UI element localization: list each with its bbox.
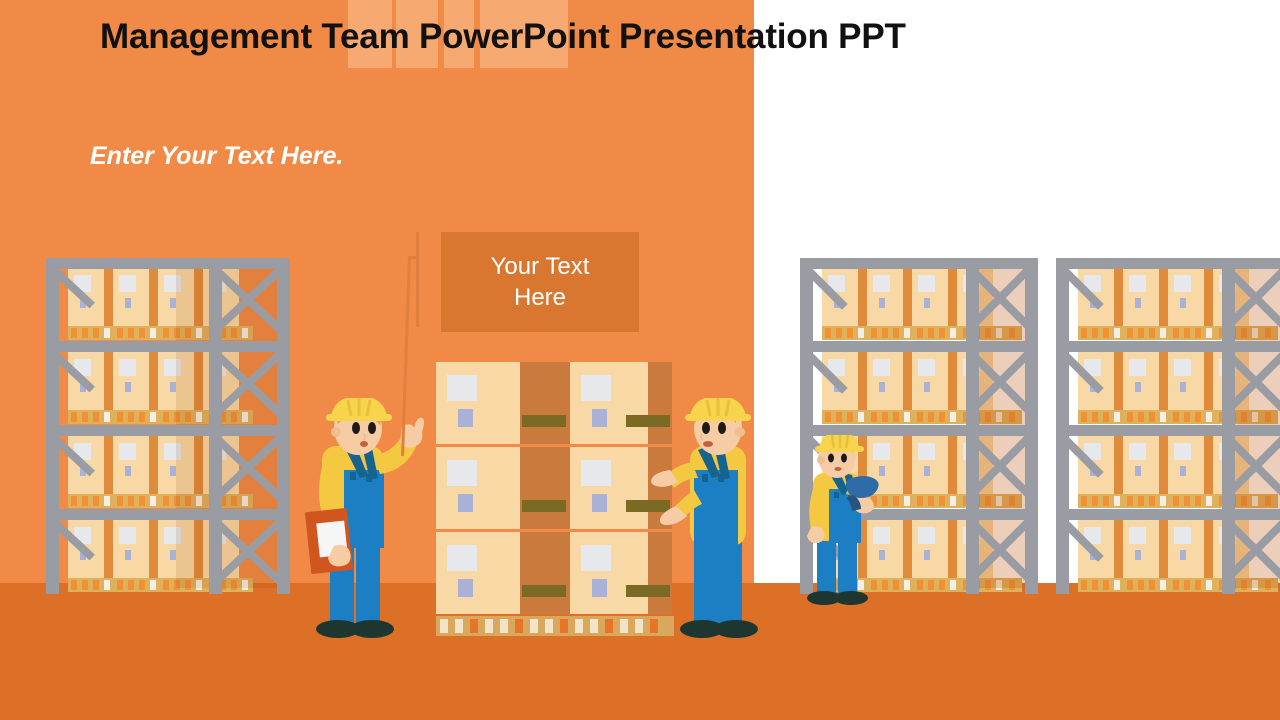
centre-stack-pallet-block — [590, 619, 598, 633]
centre-stack-pallet-block — [485, 619, 493, 633]
worker-pointing — [300, 398, 425, 638]
centre-stack-box-label — [447, 545, 477, 571]
rack-left-beam-3 — [46, 425, 290, 436]
centre-stack-box-tape — [522, 415, 566, 427]
rack-right-a-beam-2 — [800, 341, 1038, 352]
rack-right-b-beam-4 — [1056, 509, 1280, 520]
rack-left-beam-4 — [46, 509, 290, 520]
callout-text-box[interactable]: Your Text Here — [441, 232, 639, 332]
centre-stack-pallet-block — [575, 619, 583, 633]
worker-presenting-figure — [650, 398, 765, 638]
rack-right-b-beam-2 — [1056, 341, 1280, 352]
callout-label: Your Text Here — [491, 251, 590, 313]
centre-pallet-stack — [436, 362, 672, 642]
centre-stack-box-dot — [592, 409, 607, 427]
page-title: Management Team PowerPoint Presentation … — [100, 14, 1220, 60]
worker-scanning-figure — [797, 435, 897, 605]
centre-stack-box-dot — [592, 579, 607, 597]
centre-stack-box-label — [581, 375, 611, 401]
rack-right-b-beam-3 — [1056, 425, 1280, 436]
centre-stack-box-dot — [458, 409, 473, 427]
worker-scanning — [797, 435, 897, 605]
rack-left-beam-2 — [46, 341, 290, 352]
centre-stack-box-label — [447, 460, 477, 486]
centre-stack-pallet-block — [470, 619, 478, 633]
centre-stack-box-label — [581, 545, 611, 571]
rack-left-beam-1 — [46, 258, 290, 269]
rack-left — [46, 258, 290, 594]
centre-stack-pallet-block — [635, 619, 643, 633]
pointer-stick-vertical — [416, 232, 419, 327]
rack-right-b-beam-1 — [1056, 258, 1280, 269]
centre-stack-pallet-block — [500, 619, 508, 633]
centre-stack-box-dot — [592, 494, 607, 512]
centre-stack-pallet-block — [515, 619, 523, 633]
worker-pointing-figure — [300, 398, 425, 638]
centre-stack-box-tape — [522, 500, 566, 512]
centre-stack-box-label — [581, 460, 611, 486]
rack-right-b — [1056, 258, 1280, 594]
centre-stack-pallet-block — [440, 619, 448, 633]
centre-stack-pallet-block — [560, 619, 568, 633]
centre-stack-pallet-block — [605, 619, 613, 633]
centre-stack-box-tape — [522, 585, 566, 597]
worker-presenting — [650, 398, 765, 638]
callout-line-1: Your Text — [491, 253, 590, 280]
rack-right-a-beam-1 — [800, 258, 1038, 269]
centre-stack-pallet-block — [455, 619, 463, 633]
slide-subtitle: Enter Your Text Here. — [90, 142, 343, 171]
centre-stack-pallet — [436, 616, 674, 636]
centre-stack-pallet-block — [620, 619, 628, 633]
centre-stack-pallet-block — [530, 619, 538, 633]
centre-stack-box-dot — [458, 579, 473, 597]
slide-canvas: Your Text Here Management Team PowerPoin… — [0, 0, 1280, 720]
centre-stack-box-dot — [458, 494, 473, 512]
callout-line-2: Here — [514, 284, 566, 311]
centre-stack-box-label — [447, 375, 477, 401]
centre-stack-pallet-block — [545, 619, 553, 633]
